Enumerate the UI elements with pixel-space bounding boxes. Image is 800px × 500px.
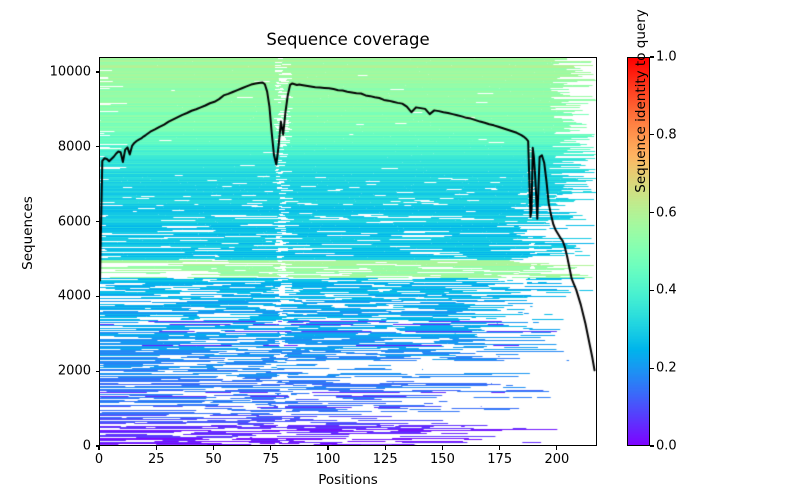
x-tick-label: 100 xyxy=(316,452,341,467)
x-tick-mark xyxy=(442,446,443,450)
colorbar-tick-mark xyxy=(650,56,654,57)
y-tick-mark xyxy=(96,371,100,372)
x-tick-label: 0 xyxy=(95,452,103,467)
x-tick-label: 150 xyxy=(430,452,455,467)
colorbar-tick-label: 0.6 xyxy=(656,205,677,220)
x-tick-mark xyxy=(213,446,214,450)
x-tick-mark xyxy=(327,446,328,450)
y-tick-mark xyxy=(96,296,100,297)
colorbar-tick-mark xyxy=(650,290,654,291)
x-axis-label: Positions xyxy=(99,472,597,488)
main-plot-axes xyxy=(99,57,597,446)
x-tick-mark xyxy=(156,446,157,450)
y-tick-label: 2000 xyxy=(9,364,91,379)
colorbar-tick-label: 0.4 xyxy=(656,283,677,298)
x-tick-label: 125 xyxy=(373,452,398,467)
figure-canvas: Sequence coverage 0255075100125150175200… xyxy=(0,0,800,500)
y-tick-label: 10000 xyxy=(9,64,91,79)
page-title: Sequence coverage xyxy=(99,30,597,49)
colorbar-tick-label: 0.0 xyxy=(656,439,677,454)
x-tick-mark xyxy=(270,446,271,450)
x-tick-label: 175 xyxy=(487,452,512,467)
x-tick-label: 200 xyxy=(545,452,570,467)
y-tick-mark xyxy=(96,146,100,147)
x-tick-label: 75 xyxy=(262,452,279,467)
y-tick-mark xyxy=(96,71,100,72)
x-tick-label: 50 xyxy=(205,452,222,467)
colorbar-tick-mark xyxy=(650,368,654,369)
colorbar-tick-mark xyxy=(650,134,654,135)
x-tick-label: 25 xyxy=(148,452,165,467)
colorbar-tick-label: 0.2 xyxy=(656,361,677,376)
colorbar-label: Sequence identity to query xyxy=(633,0,649,251)
y-tick-label: 0 xyxy=(9,439,91,454)
x-tick-mark xyxy=(499,446,500,450)
x-tick-mark xyxy=(385,446,386,450)
colorbar-tick-label: 1.0 xyxy=(656,50,677,65)
coverage-line-series xyxy=(100,58,597,446)
y-axis-label: Sequences xyxy=(20,153,36,313)
colorbar-tick-mark xyxy=(650,445,654,446)
y-tick-mark xyxy=(96,445,100,446)
x-tick-mark xyxy=(556,446,557,450)
colorbar-tick-mark xyxy=(650,212,654,213)
y-tick-mark xyxy=(96,221,100,222)
colorbar-tick-label: 0.8 xyxy=(656,127,677,142)
